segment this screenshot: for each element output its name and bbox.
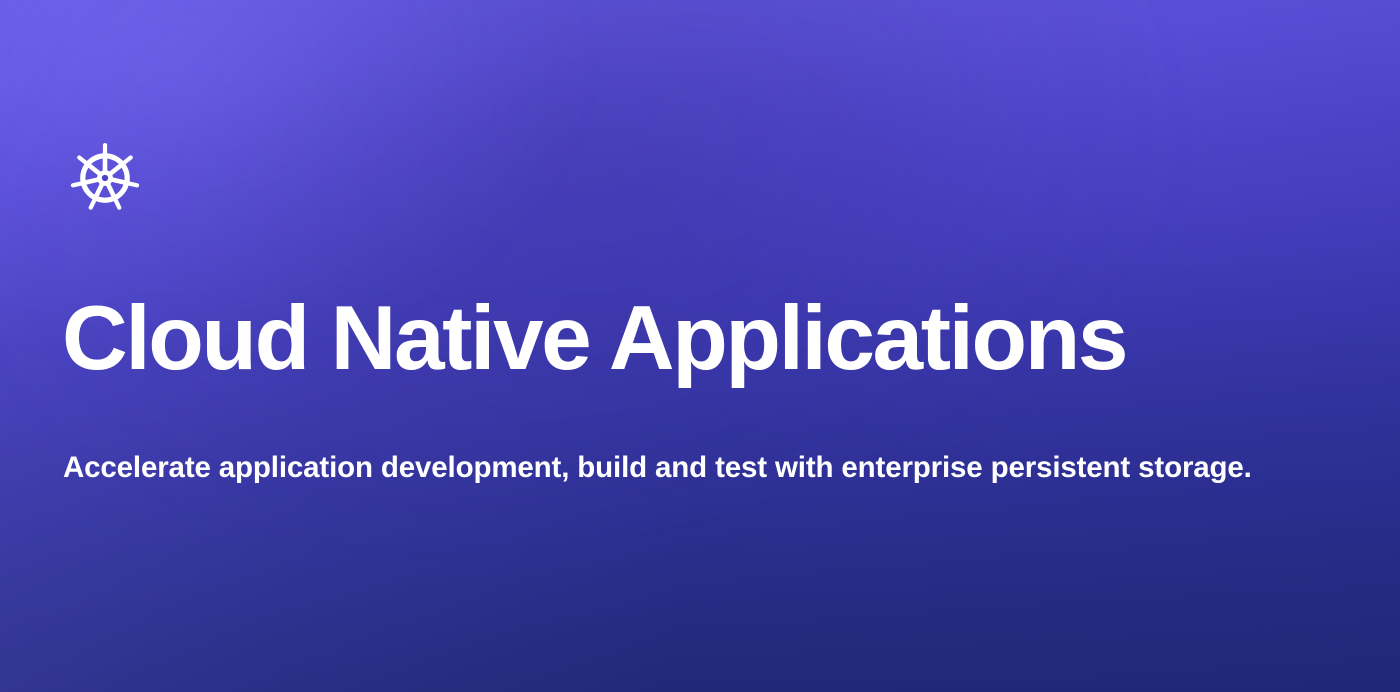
kubernetes-helm-wheel-icon bbox=[62, 144, 148, 212]
hero-content: Cloud Native Applications Accelerate app… bbox=[62, 0, 1312, 692]
page-title: Cloud Native Applications bbox=[62, 293, 1126, 384]
page-subtitle: Accelerate application development, buil… bbox=[63, 437, 1258, 498]
hero-banner: Cloud Native Applications Accelerate app… bbox=[0, 0, 1400, 692]
